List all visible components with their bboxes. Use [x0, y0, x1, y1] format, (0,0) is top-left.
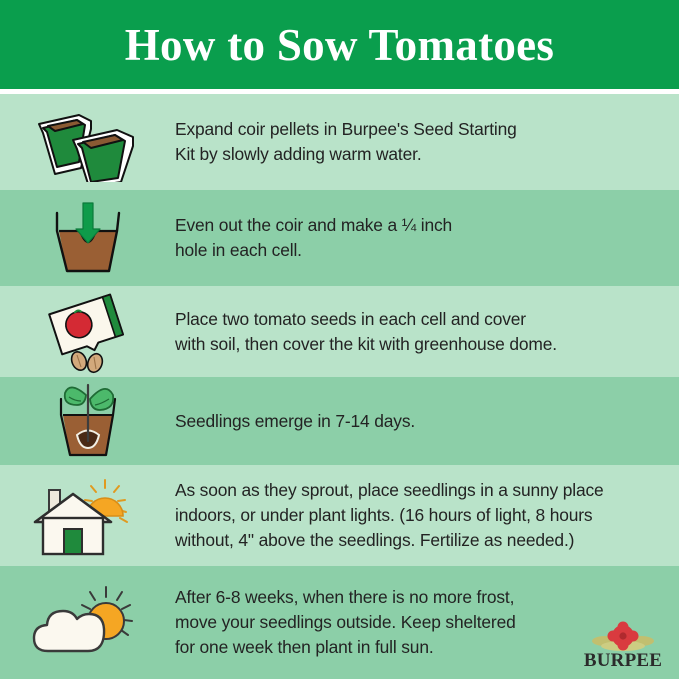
cell-with-arrow-hole-icon — [33, 197, 143, 279]
burpee-logo: BURPEE — [575, 619, 671, 671]
seedling-in-pot-icon — [33, 379, 143, 463]
step-row-1: Expand coir pellets in Burpee's Seed Sta… — [0, 94, 679, 190]
step-1-icon-cell — [0, 94, 175, 190]
house-with-sun-icon — [29, 474, 147, 558]
page-title: How to Sow Tomatoes — [125, 23, 555, 68]
burpee-logo-mark: BURPEE — [575, 619, 671, 671]
step-1-text: Expand coir pellets in Burpee's Seed Sta… — [175, 117, 661, 167]
step-row-3: Place two tomato seeds in each cell and … — [0, 286, 679, 377]
step-5-text: As soon as they sprout, place seedlings … — [175, 478, 661, 553]
step-5-icon-cell — [0, 465, 175, 566]
step-3-text-cell: Place two tomato seeds in each cell and … — [175, 307, 679, 357]
seed-packet-tomato-icon — [33, 289, 143, 375]
step-2-icon-cell — [0, 190, 175, 286]
step-2-text: Even out the coir and make a ¼ inch hole… — [175, 213, 661, 263]
step-6-icon-cell — [0, 566, 175, 679]
step-4-text-cell: Seedlings emerge in 7-14 days. — [175, 409, 679, 434]
header-banner: How to Sow Tomatoes — [0, 0, 679, 89]
step-3-icon-cell — [0, 286, 175, 377]
logo-wordmark: BURPEE — [584, 650, 662, 671]
step-3-text: Place two tomato seeds in each cell and … — [175, 307, 661, 357]
step-5-text-cell: As soon as they sprout, place seedlings … — [175, 478, 679, 553]
step-1-text-cell: Expand coir pellets in Burpee's Seed Sta… — [175, 117, 679, 167]
infographic-root: How to Sow Tomatoes Expand coir pellets … — [0, 0, 679, 679]
step-row-4: Seedlings emerge in 7-14 days. — [0, 377, 679, 465]
seed-starting-kit-cells-icon — [33, 102, 143, 182]
step-2-text-cell: Even out the coir and make a ¼ inch hole… — [175, 213, 679, 263]
sun-behind-cloud-icon — [28, 581, 148, 665]
step-row-2: Even out the coir and make a ¼ inch hole… — [0, 190, 679, 286]
step-row-5: As soon as they sprout, place seedlings … — [0, 465, 679, 566]
step-4-text: Seedlings emerge in 7-14 days. — [175, 409, 661, 434]
step-4-icon-cell — [0, 377, 175, 465]
